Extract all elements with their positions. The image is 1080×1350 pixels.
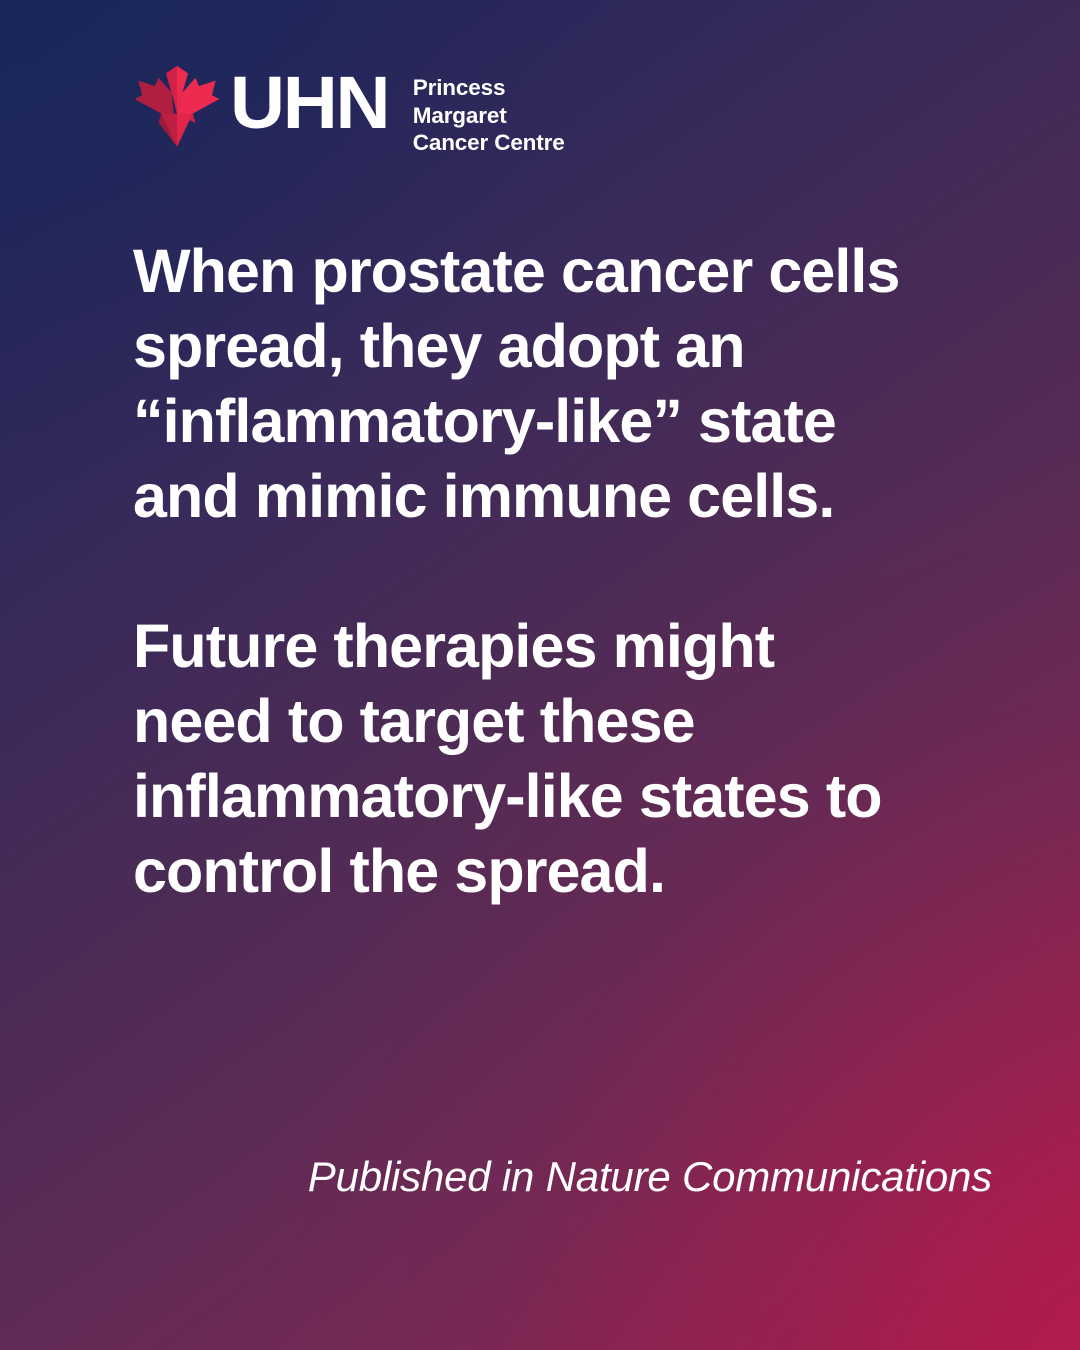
- uhn-logo-lockup: UHN Princess Margaret Cancer Centre: [131, 62, 565, 158]
- headline-block: When prostate cancer cells spread, they …: [133, 234, 963, 909]
- headline-line-5: Future therapies might: [133, 609, 963, 684]
- sub-lockup-line-3: Cancer Centre: [413, 129, 565, 157]
- uhn-wordmark: UHN: [230, 70, 388, 135]
- sub-lockup-line-2: Margaret: [413, 102, 565, 130]
- wordmark-group: UHN Princess Margaret Cancer Centre: [230, 63, 565, 158]
- paragraph-spacer: [133, 534, 963, 609]
- headline-line-6: need to target these: [133, 684, 963, 759]
- maple-leaf-icon: [131, 62, 223, 158]
- social-graphic-card: UHN Princess Margaret Cancer Centre When…: [0, 0, 1080, 1350]
- headline-line-7: inflammatory-like states to: [133, 759, 963, 834]
- sub-lockup: Princess Margaret Cancer Centre: [413, 74, 565, 158]
- sub-lockup-line-1: Princess: [413, 74, 565, 102]
- headline-line-4: and mimic immune cells.: [133, 459, 963, 534]
- publication-attribution: Published in Nature Communications: [308, 1152, 992, 1202]
- headline-line-1: When prostate cancer cells: [133, 234, 963, 309]
- headline-line-3: “inflammatory-like” state: [133, 384, 963, 459]
- headline-line-2: spread, they adopt an: [133, 309, 963, 384]
- headline-line-8: control the spread.: [133, 834, 963, 909]
- card-content: UHN Princess Margaret Cancer Centre When…: [0, 0, 1080, 1350]
